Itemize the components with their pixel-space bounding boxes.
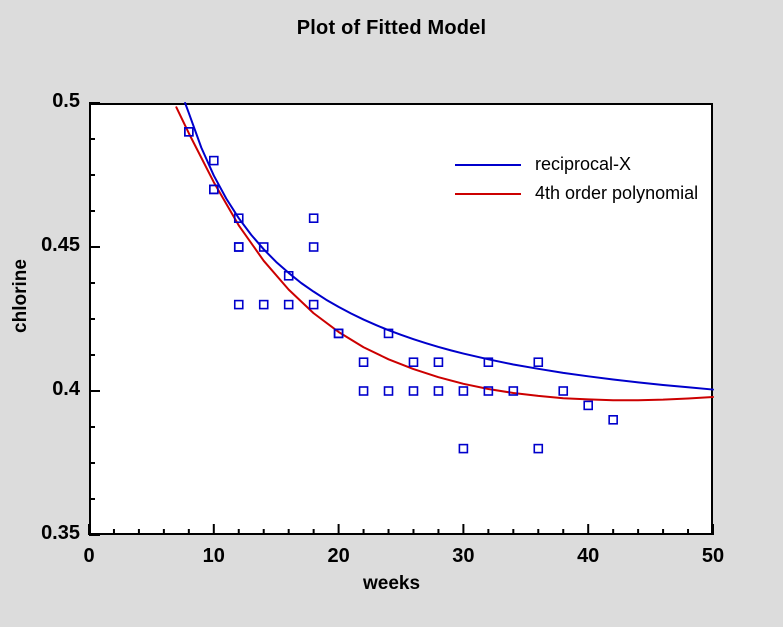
x-tick-label: 20 [309,545,369,568]
y-tick-label: 0.35 [2,522,80,545]
plot-canvas [0,0,783,627]
x-axis-label: weeks [0,573,783,595]
x-axis-ticks [89,524,713,535]
series-reciprocal-x-line [185,103,713,390]
y-axis-label: chlorine [10,236,32,356]
x-tick-label: 40 [558,545,618,568]
legend: reciprocal-X 4th order polynomial [455,150,710,208]
legend-label: 4th order polynomial [535,183,698,204]
x-tick-label: 30 [433,545,493,568]
y-tick-label: 0.5 [2,90,80,113]
legend-line-icon-4th-order-polynomial [455,193,521,195]
x-tick-label: 10 [184,545,244,568]
chart-root: Plot of Fitted Model 0.350.40.450.5 0102… [0,0,783,627]
legend-item-reciprocal-x: reciprocal-X [455,150,710,179]
y-axis-ticks [89,103,100,535]
legend-label: reciprocal-X [535,154,631,175]
y-tick-label: 0.4 [2,378,80,401]
x-tick-label: 50 [683,545,743,568]
x-tick-label: 0 [59,545,119,568]
legend-item-4th-order-polynomial: 4th order polynomial [455,179,710,208]
legend-line-icon-reciprocal-x [455,164,521,166]
